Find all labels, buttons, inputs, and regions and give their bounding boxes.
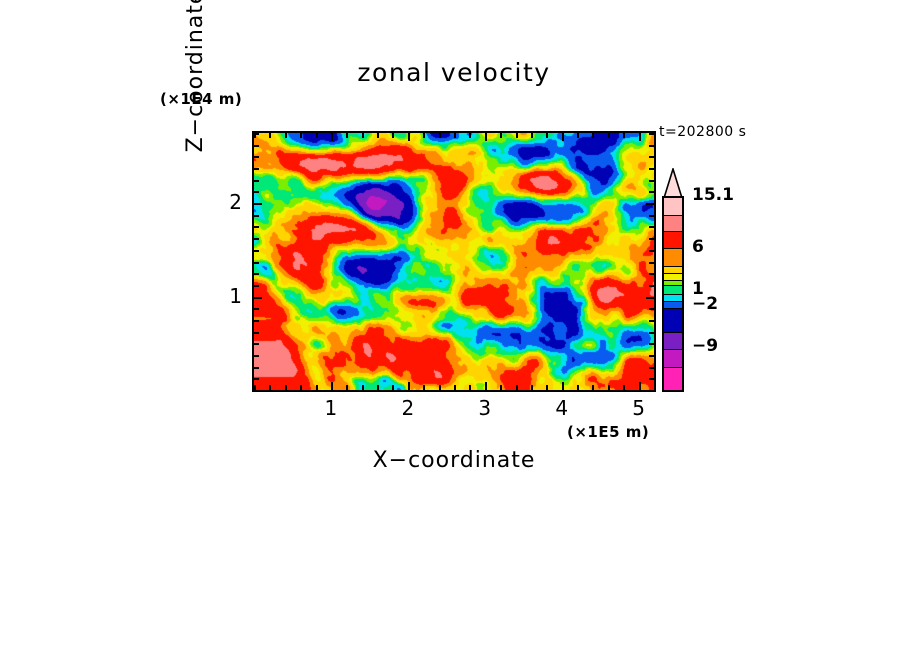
- tick-mark: [577, 133, 579, 138]
- tick-mark: [346, 133, 348, 138]
- tick-mark: [649, 262, 654, 264]
- tick-mark: [362, 133, 364, 138]
- colorbar-band: [664, 231, 682, 248]
- x-tick-label: 3: [465, 396, 505, 420]
- tick-mark: [254, 378, 259, 380]
- tick-mark: [649, 180, 654, 182]
- tick-mark: [649, 390, 654, 392]
- tick-mark: [254, 191, 259, 193]
- tick-mark: [649, 226, 654, 228]
- tick-mark: [531, 133, 533, 138]
- colorbar-tick-label: −2: [692, 294, 718, 314]
- tick-mark: [439, 133, 441, 138]
- tick-mark: [516, 133, 518, 138]
- colorbar-tick-label: −9: [692, 336, 718, 356]
- page-title: zonal velocity: [252, 58, 656, 87]
- x-tick-label: 2: [388, 396, 428, 420]
- tick-mark: [654, 133, 656, 138]
- tick-mark: [254, 145, 259, 147]
- tick-mark: [254, 215, 259, 217]
- colorbar-band: [664, 248, 682, 266]
- tick-mark: [639, 133, 641, 141]
- tick-mark: [649, 320, 654, 322]
- colorbar-band: [664, 294, 682, 301]
- tick-mark: [316, 133, 318, 138]
- y-axis-title: Z−coordinate: [183, 0, 209, 181]
- tick-mark: [649, 355, 654, 357]
- tick-mark: [454, 133, 456, 138]
- tick-mark: [649, 191, 654, 193]
- tick-mark: [577, 385, 579, 390]
- tick-mark: [546, 133, 548, 138]
- tick-mark: [639, 382, 641, 390]
- tick-mark: [649, 273, 654, 275]
- tick-mark: [649, 133, 654, 135]
- tick-mark: [300, 133, 302, 138]
- timestamp-annotation: t=202800 s: [659, 124, 746, 140]
- colorbar-arrow-cap: [662, 168, 684, 198]
- x-tick-label: 4: [542, 396, 582, 420]
- figure-canvas: zonal velocity (×1E4 m) (×1E5 m) t=20280…: [0, 0, 904, 654]
- tick-mark: [254, 343, 259, 345]
- tick-mark: [469, 385, 471, 390]
- tick-mark: [646, 203, 654, 205]
- tick-mark: [408, 382, 410, 390]
- colorbar-band: [664, 308, 682, 332]
- tick-mark: [254, 320, 259, 322]
- tick-mark: [331, 382, 333, 390]
- tick-mark: [269, 133, 271, 138]
- tick-mark: [454, 385, 456, 390]
- tick-mark: [346, 385, 348, 390]
- tick-mark: [254, 133, 259, 135]
- tick-mark: [285, 133, 287, 138]
- colorbar-band: [664, 215, 682, 232]
- x-tick-label: 5: [619, 396, 659, 420]
- tick-mark: [362, 385, 364, 390]
- tick-mark: [646, 297, 654, 299]
- tick-mark: [592, 133, 594, 138]
- tick-mark: [377, 133, 379, 138]
- tick-mark: [254, 332, 259, 334]
- tick-mark: [423, 133, 425, 138]
- tick-mark: [254, 156, 259, 158]
- tick-mark: [562, 133, 564, 141]
- tick-mark: [316, 385, 318, 390]
- tick-mark: [485, 133, 487, 141]
- x-tick-label: 1: [311, 396, 351, 420]
- tick-mark: [485, 382, 487, 390]
- tick-mark: [254, 308, 259, 310]
- tick-mark: [331, 133, 333, 141]
- tick-mark: [592, 385, 594, 390]
- tick-mark: [649, 367, 654, 369]
- tick-mark: [469, 133, 471, 138]
- tick-mark: [649, 238, 654, 240]
- tick-mark: [254, 238, 259, 240]
- tick-mark: [623, 133, 625, 138]
- contour-field: [254, 133, 654, 390]
- tick-mark: [254, 250, 259, 252]
- tick-mark: [649, 156, 654, 158]
- tick-mark: [423, 385, 425, 390]
- tick-mark: [562, 382, 564, 390]
- tick-mark: [300, 385, 302, 390]
- tick-mark: [649, 250, 654, 252]
- tick-mark: [516, 385, 518, 390]
- x-axis-title: X−coordinate: [252, 448, 656, 473]
- tick-mark: [546, 385, 548, 390]
- tick-mark: [500, 385, 502, 390]
- tick-mark: [500, 133, 502, 138]
- tick-mark: [254, 180, 259, 182]
- tick-mark: [392, 133, 394, 138]
- tick-mark: [254, 226, 259, 228]
- tick-mark: [254, 367, 259, 369]
- tick-mark: [623, 385, 625, 390]
- tick-mark: [649, 168, 654, 170]
- x-axis-unit-label: (×1E5 m): [567, 423, 649, 441]
- tick-mark: [377, 385, 379, 390]
- tick-mark: [254, 390, 259, 392]
- tick-mark: [649, 308, 654, 310]
- tick-mark: [608, 385, 610, 390]
- tick-mark: [649, 145, 654, 147]
- tick-mark: [649, 343, 654, 345]
- colorbar-band: [664, 198, 682, 215]
- tick-mark: [608, 133, 610, 138]
- tick-mark: [254, 355, 259, 357]
- y-tick-label: 2: [212, 190, 242, 214]
- tick-mark: [439, 385, 441, 390]
- colorbar-band: [664, 273, 682, 280]
- tick-mark: [254, 168, 259, 170]
- tick-mark: [254, 273, 259, 275]
- tick-mark: [649, 378, 654, 380]
- tick-mark: [254, 203, 262, 205]
- tick-mark: [531, 385, 533, 390]
- tick-mark: [254, 285, 259, 287]
- tick-mark: [408, 133, 410, 141]
- tick-mark: [649, 332, 654, 334]
- colorbar-band: [664, 301, 682, 308]
- colorbar-band: [664, 266, 682, 273]
- tick-mark: [654, 385, 656, 390]
- colorbar-band: [664, 367, 682, 392]
- tick-mark: [254, 262, 259, 264]
- colorbar-tick-label: 15.1: [692, 185, 734, 205]
- tick-mark: [254, 297, 262, 299]
- tick-mark: [649, 285, 654, 287]
- tick-mark: [392, 385, 394, 390]
- tick-mark: [649, 215, 654, 217]
- colorbar-tick-label: 6: [692, 237, 704, 257]
- tick-mark: [269, 385, 271, 390]
- colorbar-band: [664, 285, 682, 293]
- tick-mark: [285, 385, 287, 390]
- colorbar-band: [664, 349, 682, 367]
- colorbar: [662, 196, 684, 392]
- colorbar-band: [664, 332, 682, 350]
- contour-plot-panel: [252, 131, 656, 392]
- y-tick-label: 1: [212, 284, 242, 308]
